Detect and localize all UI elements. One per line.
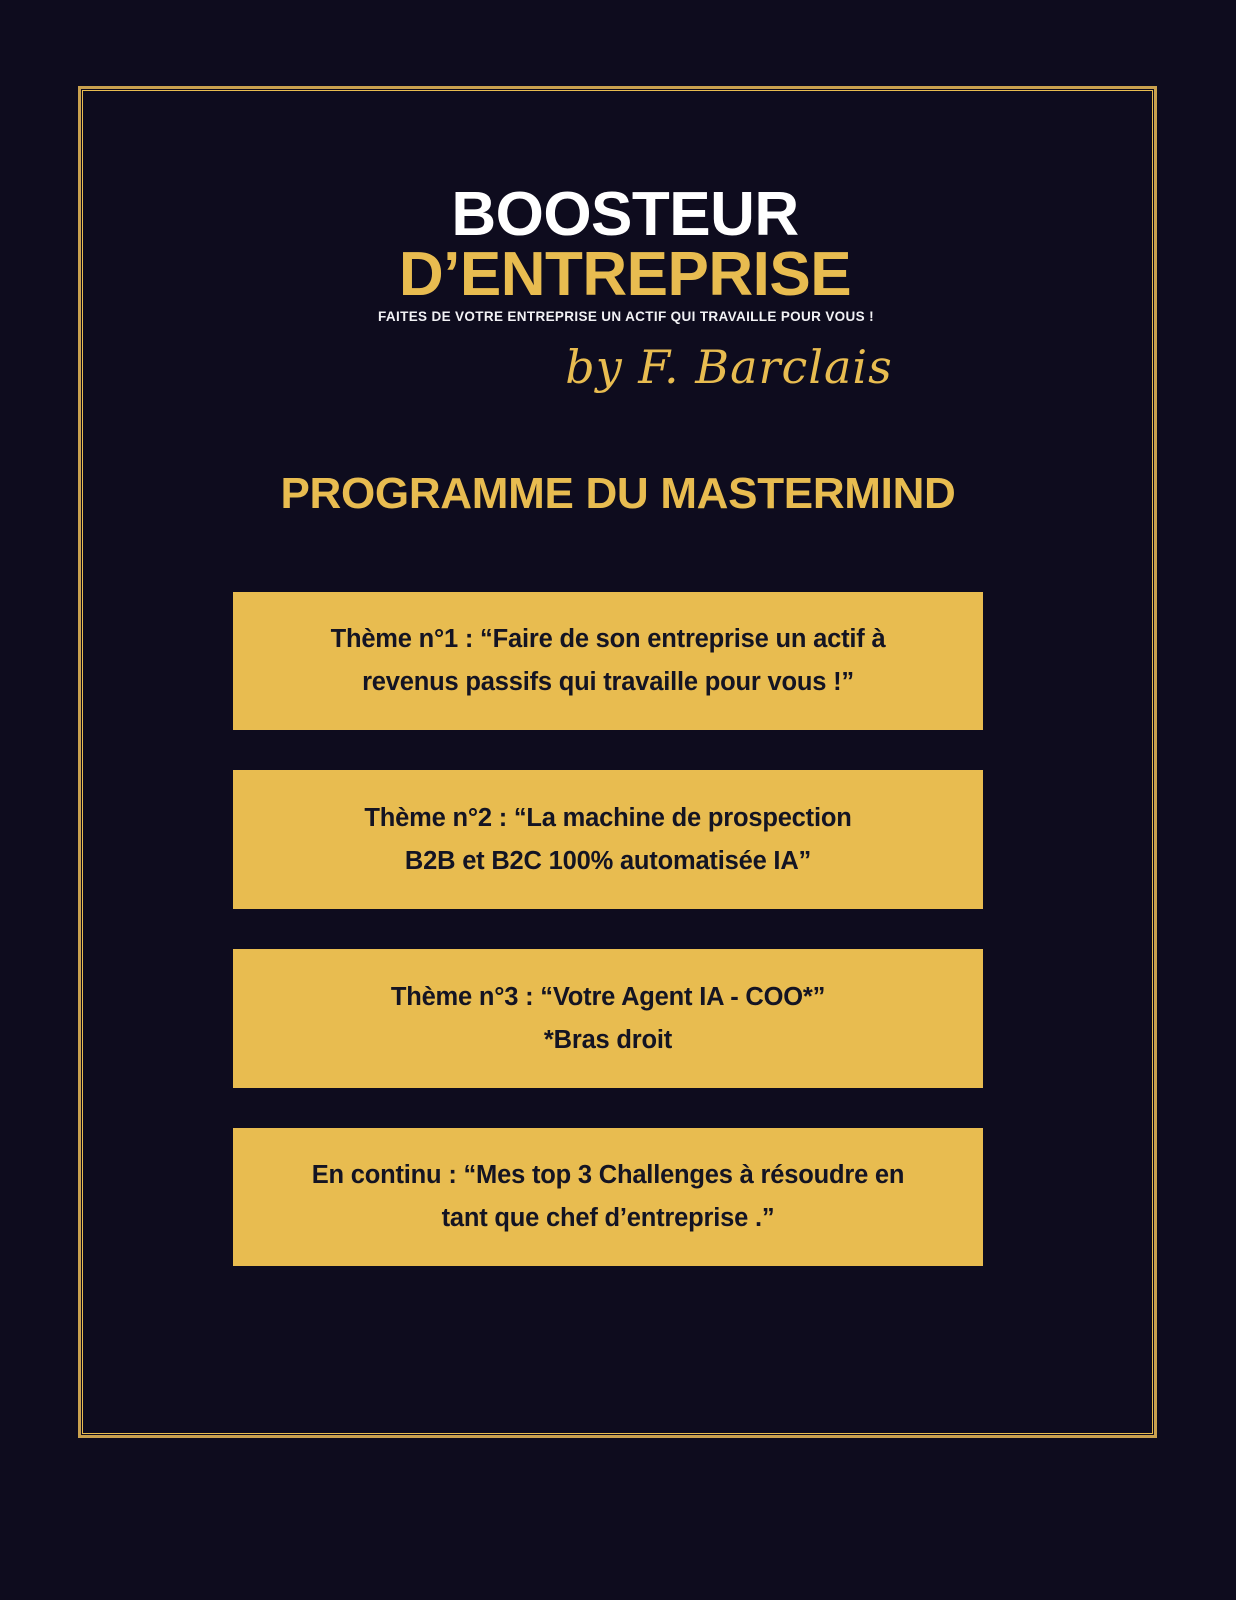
theme-item-4-line-2: tant que chef d’entreprise .” bbox=[442, 1204, 775, 1232]
theme-item-2-line-2: B2B et B2C 100% automatisée IA” bbox=[405, 847, 811, 875]
logo-secondary-word: D’ENTREPRISE bbox=[0, 244, 1236, 306]
theme-item-4: En continu : “Mes top 3 Challenges à rés… bbox=[233, 1128, 983, 1266]
theme-item-2-text: Thème n°2 : “La machine de prospection B… bbox=[364, 797, 851, 883]
poster-canvas: BOOSTEUR D’ENTREPRISE FAITES DE VOTRE EN… bbox=[0, 0, 1236, 1600]
author-signature: by F. Barclais bbox=[0, 341, 1236, 393]
theme-item-2-line-1: Thème n°2 : “La machine de prospection bbox=[364, 804, 851, 832]
theme-item-3-line-2: *Bras droit bbox=[544, 1026, 672, 1054]
theme-item-1-line-1: Thème n°1 : “Faire de son entreprise un … bbox=[331, 625, 886, 653]
logo-tagline: FAITES DE VOTRE ENTREPRISE UN ACTIF QUI … bbox=[0, 309, 1236, 325]
theme-item-1: Thème n°1 : “Faire de son entreprise un … bbox=[233, 592, 983, 730]
brand-logo: BOOSTEUR D’ENTREPRISE FAITES DE VOTRE EN… bbox=[0, 186, 1236, 393]
theme-item-3: Thème n°3 : “Votre Agent IA - COO*” *Bra… bbox=[233, 949, 983, 1088]
theme-item-2: Thème n°2 : “La machine de prospection B… bbox=[233, 770, 983, 909]
logo-primary-word: BOOSTEUR bbox=[0, 186, 1236, 244]
theme-item-4-line-1: En continu : “Mes top 3 Challenges à rés… bbox=[312, 1161, 905, 1189]
theme-list: Thème n°1 : “Faire de son entreprise un … bbox=[233, 592, 983, 1266]
theme-item-4-text: En continu : “Mes top 3 Challenges à rés… bbox=[312, 1154, 905, 1240]
theme-item-1-line-2: revenus passifs qui travaille pour vous … bbox=[362, 668, 854, 696]
theme-item-3-line-1: Thème n°3 : “Votre Agent IA - COO*” bbox=[391, 983, 825, 1011]
page-title: PROGRAMME DU MASTERMIND bbox=[0, 468, 1236, 520]
theme-item-3-text: Thème n°3 : “Votre Agent IA - COO*” *Bra… bbox=[391, 976, 825, 1062]
theme-item-1-text: Thème n°1 : “Faire de son entreprise un … bbox=[331, 618, 886, 704]
